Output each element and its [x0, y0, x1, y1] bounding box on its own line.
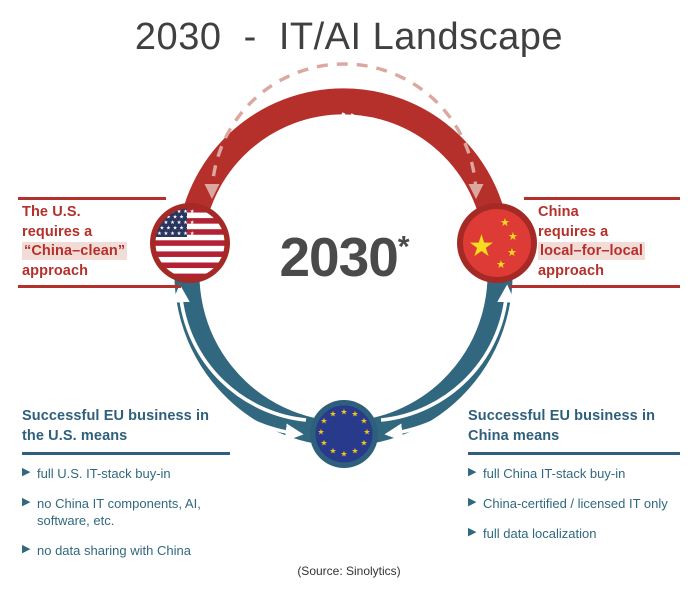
svg-text:★: ★ [351, 447, 358, 456]
eu-china-heading-line2: China means [468, 428, 559, 444]
bullet-icon: ▶ [468, 524, 476, 541]
list-item: ▶ full U.S. IT-stack buy-in [22, 465, 230, 482]
svg-text:★: ★ [340, 408, 347, 417]
svg-text:★: ★ [320, 417, 327, 426]
bullet-icon: ▶ [468, 464, 476, 481]
rule-left-top [18, 197, 166, 200]
svg-text:★: ★ [360, 417, 367, 426]
svg-text:★: ★ [317, 428, 324, 437]
source-caption: (Source: Sinolytics) [0, 564, 698, 578]
arc-us-china-broken [190, 64, 497, 243]
eu-china-list: ▶ full China IT-stack buy-in ▶ China-cer… [468, 465, 680, 542]
list-item: ▶ no China IT components, AI, software, … [22, 495, 230, 529]
eu-china-heading: Successful EU business in China means [468, 406, 680, 446]
svg-text:★: ★ [496, 258, 506, 271]
svg-text:★: ★ [507, 246, 517, 259]
list-item-label: full China IT-stack buy-in [483, 466, 625, 481]
center-year-value: 2030 [279, 226, 397, 288]
svg-text:★: ★ [508, 230, 518, 243]
statement-us-line3-highlight: “China–clean” [22, 242, 127, 260]
bullet-icon: ▶ [468, 494, 476, 511]
list-item-label: no data sharing with China [37, 543, 191, 558]
eu-us-block: Successful EU business in the U.S. means… [22, 406, 230, 572]
eu-flag-circle[interactable]: ★ ★ ★ ★ ★ ★ ★ ★ ★ ★ ★ ★ [310, 400, 378, 468]
svg-text:★: ★ [363, 428, 370, 437]
statement-china-line4: approach [538, 263, 604, 279]
svg-text:★ ★ ★ ★ ★ ★: ★ ★ ★ ★ ★ ★ [157, 231, 195, 237]
svg-text:★: ★ [329, 410, 336, 419]
eu-china-heading-line1: Successful EU business in [468, 408, 655, 424]
list-item-label: China-certified / licensed IT only [483, 496, 668, 511]
list-item-label: no China IT components, AI, software, et… [37, 496, 201, 528]
list-item: ▶ no data sharing with China [22, 542, 230, 559]
bullet-icon: ▶ [22, 464, 30, 481]
svg-text:★: ★ [351, 410, 358, 419]
bullet-icon: ▶ [22, 541, 30, 558]
list-item-label: full U.S. IT-stack buy-in [37, 466, 171, 481]
list-item: ▶ full data localization [468, 525, 680, 542]
break-marks-icon [332, 113, 353, 136]
svg-text:★: ★ [468, 229, 495, 264]
statement-us-line1: The U.S. [22, 204, 81, 220]
statement-us: The U.S. requires a “China–clean” approa… [22, 203, 157, 281]
list-item: ▶ full China IT-stack buy-in [468, 465, 680, 482]
svg-text:★: ★ [340, 450, 347, 459]
center-year: 2030* [249, 230, 439, 285]
list-item: ▶ China-certified / licensed IT only [468, 495, 680, 512]
eu-us-heading-line2: the U.S. means [22, 428, 127, 444]
eu-china-block: Successful EU business in China means ▶ … [468, 406, 680, 555]
statement-china: China requires a local–for–local approac… [538, 203, 678, 281]
svg-text:★: ★ [329, 447, 336, 456]
statement-china-line3-highlight: local–for–local [538, 242, 645, 260]
china-flag-circle[interactable]: ★ ★ ★ ★ ★ [457, 203, 537, 283]
infographic-canvas: 2030 - IT/AI Landscape [0, 0, 698, 600]
eu-us-divider [22, 452, 230, 455]
eu-us-heading-line1: Successful EU business in [22, 408, 209, 424]
bullet-icon: ▶ [22, 494, 30, 511]
center-year-asterisk: * [398, 231, 409, 264]
svg-text:★: ★ [500, 216, 510, 229]
statement-us-line2: requires a [22, 224, 92, 240]
statement-china-line2: requires a [538, 224, 608, 240]
rule-right-bottom [510, 285, 680, 288]
eu-china-divider [468, 452, 680, 455]
svg-text:★: ★ [320, 439, 327, 448]
statement-china-line1: China [538, 204, 579, 220]
eu-us-list: ▶ full U.S. IT-stack buy-in ▶ no China I… [22, 465, 230, 559]
rule-right-top [524, 197, 680, 200]
eu-us-heading: Successful EU business in the U.S. means [22, 406, 230, 446]
us-flag-circle[interactable]: ★ ★ ★ ★ ★ ★ ★ ★ ★ ★ ★ ★ ★ ★ ★ ★ ★ ★ ★ ★ … [150, 203, 230, 283]
svg-text:★: ★ [360, 439, 367, 448]
rule-left-bottom [18, 285, 181, 288]
statement-us-line4: approach [22, 263, 88, 279]
list-item-label: full data localization [483, 526, 596, 541]
